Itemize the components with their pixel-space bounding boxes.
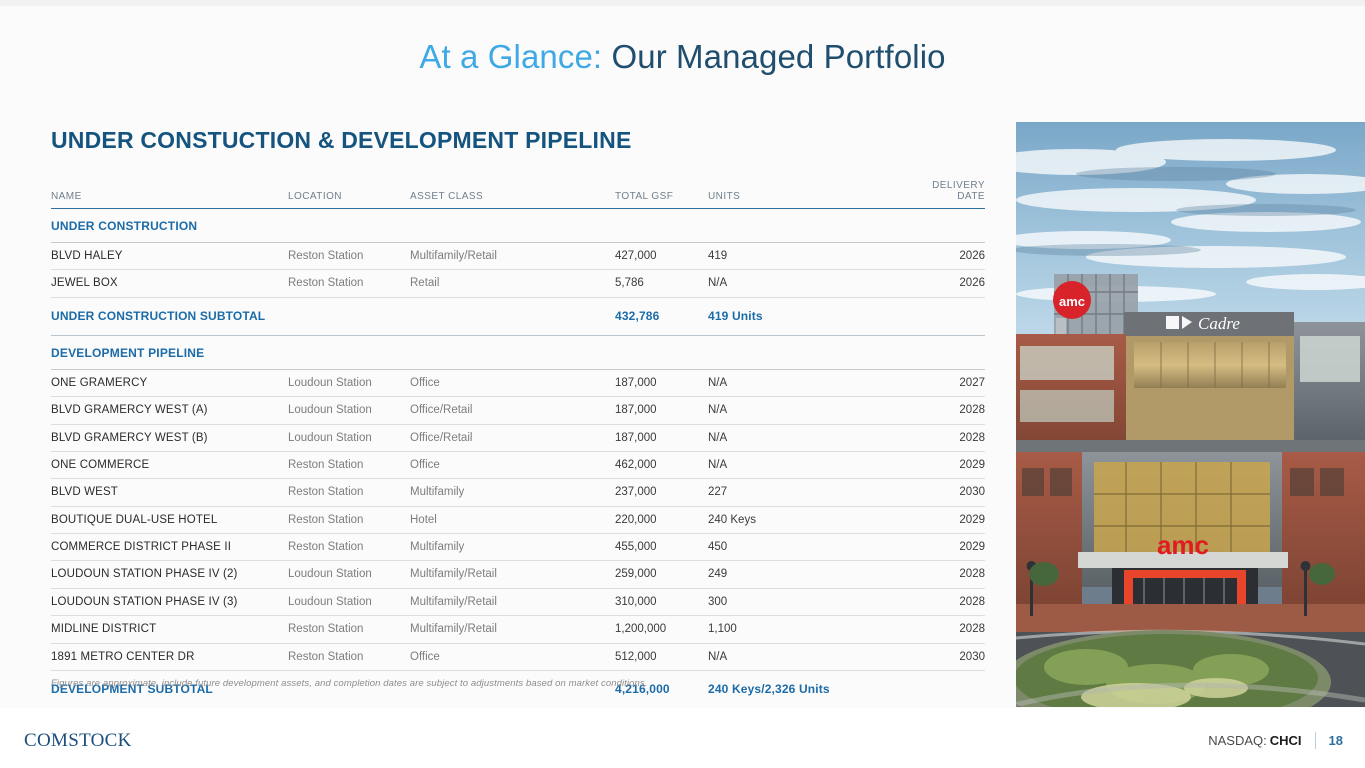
table-row: BLVD GRAMERCY WEST (A)Loudoun StationOff… [51, 397, 985, 424]
cell-asset-class: Hotel [410, 506, 615, 533]
ticker-label: NASDAQ: [1208, 733, 1267, 748]
svg-text:Cadre: Cadre [1198, 314, 1240, 333]
cell-name: 1891 METRO CENTER DR [51, 643, 288, 670]
cell-total-gsf: 220,000 [615, 506, 708, 533]
cell-name: BLVD WEST [51, 479, 288, 506]
cell-name: BOUTIQUE DUAL-USE HOTEL [51, 506, 288, 533]
ticker-info: NASDAQ:CHCI [1208, 733, 1301, 748]
column-header-asset-class: ASSET CLASS [410, 180, 615, 209]
cell-name: LOUDOUN STATION PHASE IV (2) [51, 561, 288, 588]
cell-asset-class: Multifamily [410, 479, 615, 506]
cell-delivery-date: 2028 [904, 561, 985, 588]
column-header-name: NAME [51, 180, 288, 209]
cell-delivery-date: 2026 [904, 243, 985, 270]
subtotal-units: 419 Units [708, 297, 985, 335]
footer-divider [1315, 732, 1316, 749]
cell-name: MIDLINE DISTRICT [51, 616, 288, 643]
cell-delivery-date: 2029 [904, 506, 985, 533]
table-group-row: DEVELOPMENT PIPELINE [51, 335, 985, 369]
cell-delivery-date: 2029 [904, 451, 985, 478]
table-row: LOUDOUN STATION PHASE IV (2)Loudoun Stat… [51, 561, 985, 588]
column-header-total-gsf: TOTAL GSF [615, 180, 708, 209]
cell-location: Reston Station [288, 270, 410, 297]
cell-name: BLVD HALEY [51, 243, 288, 270]
cell-units: 419 [708, 243, 904, 270]
svg-text:amc: amc [1157, 530, 1209, 560]
table-row: BLVD GRAMERCY WEST (B)Loudoun StationOff… [51, 424, 985, 451]
cell-location: Reston Station [288, 506, 410, 533]
table-row: BLVD WESTReston StationMultifamily237,00… [51, 479, 985, 506]
cell-units: 240 Keys [708, 506, 904, 533]
cell-units: N/A [708, 369, 904, 396]
cell-total-gsf: 427,000 [615, 243, 708, 270]
cell-delivery-date: 2029 [904, 534, 985, 561]
ticker-symbol: CHCI [1270, 733, 1302, 748]
cell-name: ONE GRAMERCY [51, 369, 288, 396]
cell-name: LOUDOUN STATION PHASE IV (3) [51, 588, 288, 615]
subtotal-units: 240 Keys/2,326 Units [708, 670, 985, 708]
cell-asset-class: Office [410, 451, 615, 478]
cell-delivery-date: 2028 [904, 588, 985, 615]
cell-asset-class: Office [410, 369, 615, 396]
section-heading: UNDER CONSTUCTION & DEVELOPMENT PIPELINE [51, 127, 631, 154]
cell-total-gsf: 5,786 [615, 270, 708, 297]
cell-asset-class: Multifamily/Retail [410, 561, 615, 588]
table-group-label: UNDER CONSTRUCTION [51, 209, 985, 243]
cell-location: Loudoun Station [288, 369, 410, 396]
cell-total-gsf: 237,000 [615, 479, 708, 506]
cell-asset-class: Retail [410, 270, 615, 297]
cell-units: 1,100 [708, 616, 904, 643]
table-row: BLVD HALEYReston StationMultifamily/Reta… [51, 243, 985, 270]
cell-name: BLVD GRAMERCY WEST (B) [51, 424, 288, 451]
footnote: Figures are approximate, include future … [51, 678, 951, 689]
property-photo: amc Cadre [1016, 122, 1365, 707]
slide-canvas: At a Glance: Our Managed Portfolio UNDER… [0, 0, 1365, 768]
cell-asset-class: Multifamily/Retail [410, 243, 615, 270]
table-header-row: NAME LOCATION ASSET CLASS TOTAL GSF UNIT… [51, 180, 985, 209]
cell-total-gsf: 1,200,000 [615, 616, 708, 643]
cell-name: COMMERCE DISTRICT PHASE II [51, 534, 288, 561]
page-title-main: Our Managed Portfolio [611, 38, 945, 75]
cell-total-gsf: 310,000 [615, 588, 708, 615]
cell-name: JEWEL BOX [51, 270, 288, 297]
subtotal-total-gsf: 4,216,000 [615, 670, 708, 708]
cell-location: Reston Station [288, 616, 410, 643]
subtotal-label: UNDER CONSTRUCTION SUBTOTAL [51, 297, 615, 335]
comstock-logo: Comstock [24, 722, 132, 753]
table-row: ONE COMMERCEReston StationOffice462,000N… [51, 451, 985, 478]
cell-location: Loudoun Station [288, 561, 410, 588]
cell-units: N/A [708, 270, 904, 297]
cell-units: 300 [708, 588, 904, 615]
subtotal-total-gsf: 432,786 [615, 297, 708, 335]
cell-asset-class: Office [410, 643, 615, 670]
property-photo-illustration: amc Cadre [1016, 122, 1365, 707]
cell-delivery-date: 2026 [904, 270, 985, 297]
table-row: LOUDOUN STATION PHASE IV (3)Loudoun Stat… [51, 588, 985, 615]
column-header-delivery-date: DELIVERY DATE [904, 180, 985, 209]
page-title-accent: At a Glance: [419, 38, 602, 75]
cell-location: Loudoun Station [288, 424, 410, 451]
cell-asset-class: Office/Retail [410, 397, 615, 424]
top-strip [0, 0, 1365, 6]
cell-delivery-date: 2030 [904, 479, 985, 506]
cell-delivery-date: 2027 [904, 369, 985, 396]
cell-location: Reston Station [288, 243, 410, 270]
table-row: BOUTIQUE DUAL-USE HOTELReston StationHot… [51, 506, 985, 533]
table-subtotal-row: UNDER CONSTRUCTION SUBTOTAL432,786419 Un… [51, 297, 985, 335]
cell-asset-class: Multifamily [410, 534, 615, 561]
portfolio-table: NAME LOCATION ASSET CLASS TOTAL GSF UNIT… [51, 180, 985, 747]
cell-total-gsf: 259,000 [615, 561, 708, 588]
column-header-units: UNITS [708, 180, 904, 209]
cell-total-gsf: 455,000 [615, 534, 708, 561]
table-row: JEWEL BOXReston StationRetail5,786N/A202… [51, 270, 985, 297]
cell-units: N/A [708, 643, 904, 670]
cell-units: 450 [708, 534, 904, 561]
cell-delivery-date: 2028 [904, 424, 985, 451]
page-number: 18 [1329, 733, 1343, 748]
table-row: COMMERCE DISTRICT PHASE IIReston Station… [51, 534, 985, 561]
cell-asset-class: Multifamily/Retail [410, 616, 615, 643]
footer-right-group: NASDAQ:CHCI 18 [1208, 732, 1343, 749]
cell-asset-class: Office/Retail [410, 424, 615, 451]
table-row: MIDLINE DISTRICTReston StationMultifamil… [51, 616, 985, 643]
cell-units: 249 [708, 561, 904, 588]
cell-total-gsf: 462,000 [615, 451, 708, 478]
cell-location: Loudoun Station [288, 588, 410, 615]
cell-location: Reston Station [288, 534, 410, 561]
cell-units: N/A [708, 424, 904, 451]
table-head: NAME LOCATION ASSET CLASS TOTAL GSF UNIT… [51, 180, 985, 209]
cell-delivery-date: 2028 [904, 616, 985, 643]
table-group-row: UNDER CONSTRUCTION [51, 209, 985, 243]
cell-total-gsf: 187,000 [615, 424, 708, 451]
cell-total-gsf: 187,000 [615, 397, 708, 424]
table-group-label: DEVELOPMENT PIPELINE [51, 335, 985, 369]
cell-delivery-date: 2028 [904, 397, 985, 424]
table-row: ONE GRAMERCYLoudoun StationOffice187,000… [51, 369, 985, 396]
cell-asset-class: Multifamily/Retail [410, 588, 615, 615]
page-title: At a Glance: Our Managed Portfolio [0, 38, 1365, 76]
cell-location: Reston Station [288, 451, 410, 478]
cell-location: Reston Station [288, 479, 410, 506]
cell-name: BLVD GRAMERCY WEST (A) [51, 397, 288, 424]
svg-text:amc: amc [1059, 294, 1085, 309]
table-subtotal-row: DEVELOPMENT SUBTOTAL4,216,000240 Keys/2,… [51, 670, 985, 708]
cell-total-gsf: 512,000 [615, 643, 708, 670]
table-body: UNDER CONSTRUCTIONBLVD HALEYReston Stati… [51, 209, 985, 748]
cell-delivery-date: 2030 [904, 643, 985, 670]
cell-total-gsf: 187,000 [615, 369, 708, 396]
cell-units: N/A [708, 397, 904, 424]
cell-location: Reston Station [288, 643, 410, 670]
cell-units: N/A [708, 451, 904, 478]
subtotal-label: DEVELOPMENT SUBTOTAL [51, 670, 615, 708]
slide-footer: Comstock NASDAQ:CHCI 18 [0, 708, 1365, 768]
cell-location: Loudoun Station [288, 397, 410, 424]
cell-name: ONE COMMERCE [51, 451, 288, 478]
table-row: 1891 METRO CENTER DRReston StationOffice… [51, 643, 985, 670]
portfolio-table-wrapper: NAME LOCATION ASSET CLASS TOTAL GSF UNIT… [51, 180, 985, 747]
cell-units: 227 [708, 479, 904, 506]
column-header-location: LOCATION [288, 180, 410, 209]
